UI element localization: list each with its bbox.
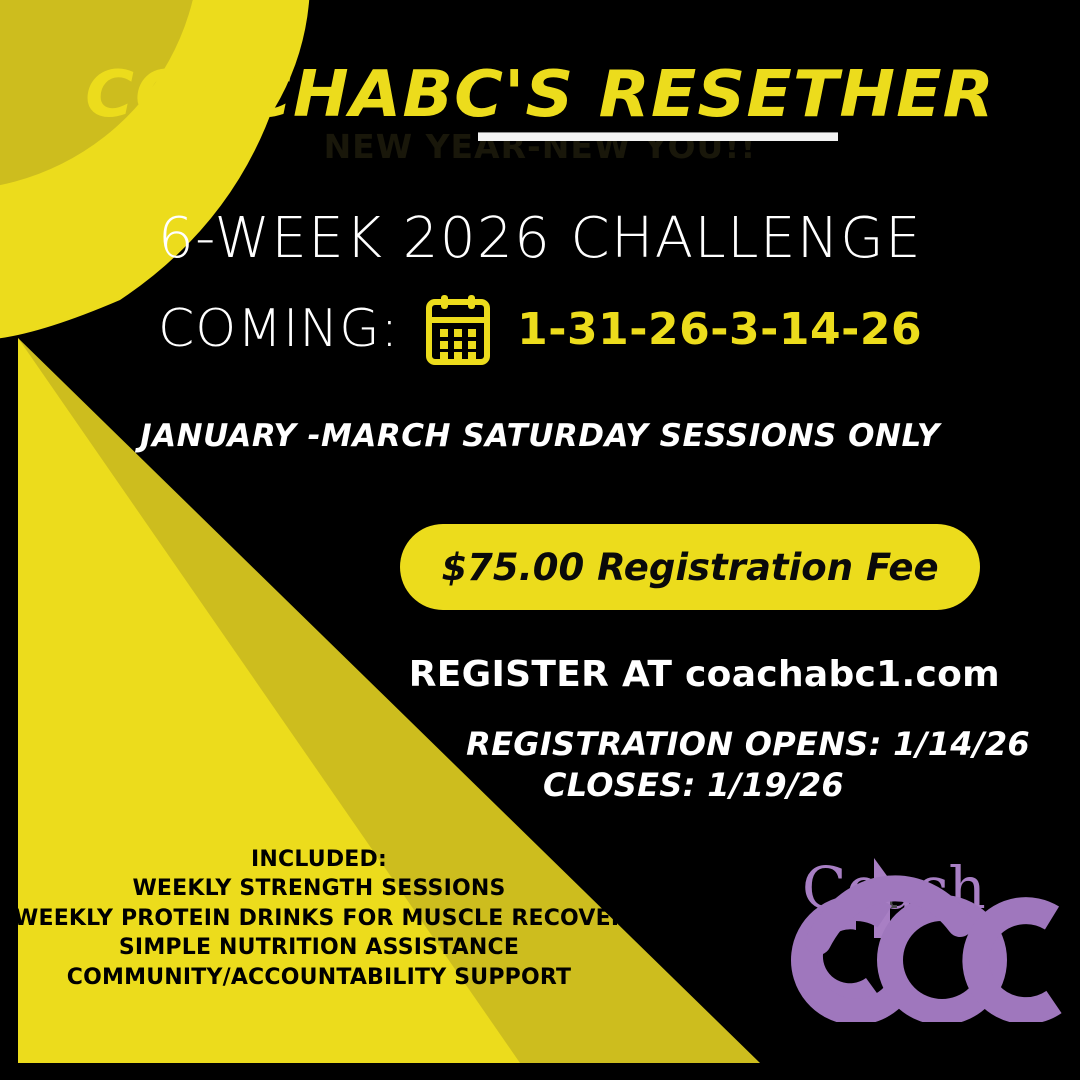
page-title: COACHABC'S RESETHER [0,62,1080,129]
sessions-note: JANUARY -MARCH SATURDAY SESSIONS ONLY [0,418,1080,454]
included-heading: INCLUDED: [14,845,624,874]
list-item: WEEKLY PROTEIN DRINKS FOR MUSCLE RECOVER… [14,904,624,933]
coach-abc-logo[interactable]: Coach a [782,846,1068,1022]
registration-fee-badge[interactable]: $75.00 Registration Fee [400,524,980,610]
registration-closes: CLOSES: 1/19/26 [0,765,1030,806]
register-at-line: REGISTER AT coachabc1.com [0,654,1080,695]
flyer-canvas: COACHABC'S RESETHER NEW YEAR-NEW YOU!! 6… [0,0,1080,1080]
registration-window: REGISTRATION OPENS: 1/14/26 CLOSES: 1/19… [0,724,1080,806]
list-item: WEEKLY STRENGTH SESSIONS [14,874,624,903]
register-url[interactable]: coachabc1.com [685,654,1000,695]
headline-block: COACHABC'S RESETHER NEW YEAR-NEW YOU!! [0,62,1080,169]
coming-date-row: COMING: 1-31-26-3 [0,292,1080,366]
logo-monogram-c [976,911,1054,1011]
included-list: INCLUDED: WEEKLY STRENGTH SESSIONS WEEKL… [14,845,624,992]
list-item: COMMUNITY/ACCOUNTABILITY SUPPORT [14,963,624,992]
registration-fee-label: $75.00 Registration Fee [441,546,938,589]
challenge-heading: 6-WEEK 2026 CHALLENGE [0,206,1080,271]
registration-opens: REGISTRATION OPENS: 1/14/26 [0,724,1030,765]
register-at-prefix: REGISTER AT [409,654,685,695]
calendar-icon [421,292,495,366]
subtitle-highlight-bar [478,132,838,141]
subtitle-row: NEW YEAR-NEW YOU!! [0,125,1080,169]
coming-label: COMING: [158,299,399,359]
list-item: SIMPLE NUTRITION ASSISTANCE [14,933,624,962]
challenge-date-range: 1-31-26-3-14-26 [517,304,922,355]
